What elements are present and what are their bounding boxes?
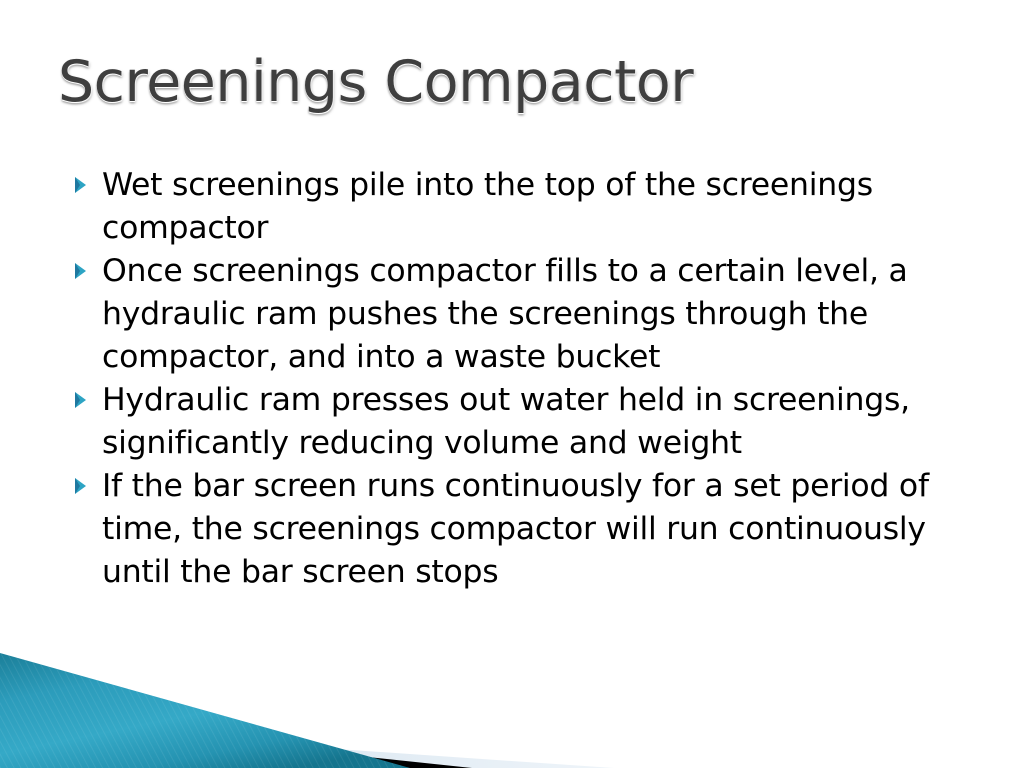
list-item: Wet screenings pile into the top of the … (70, 164, 982, 250)
list-item: Hydraulic ram presses out water held in … (70, 379, 982, 465)
teal-wedge-texture (0, 653, 410, 768)
triangle-right-bullet-icon (75, 478, 86, 494)
bullet-list: Wet screenings pile into the top of the … (70, 164, 982, 594)
pale-band-shape (0, 726, 614, 768)
list-item-text: Once screenings compactor fills to a cer… (102, 250, 982, 379)
slide-canvas: Screenings Compactor Wet screenings pile… (0, 0, 1024, 768)
teal-wedge-shape (0, 653, 410, 768)
list-item-text: Hydraulic ram presses out water held in … (102, 379, 982, 465)
triangle-right-bullet-icon (75, 392, 86, 408)
triangle-right-bullet-icon (75, 177, 86, 193)
list-item: If the bar screen runs continuously for … (70, 465, 982, 594)
list-item-text: If the bar screen runs continuously for … (102, 465, 982, 594)
page-title: Screenings Compactor (58, 44, 958, 128)
triangle-right-bullet-icon (75, 263, 86, 279)
bottom-left-corner-swoosh (0, 640, 1024, 768)
list-item: Once screenings compactor fills to a cer… (70, 250, 982, 379)
list-item-text: Wet screenings pile into the top of the … (102, 164, 982, 250)
black-stripe-shape (0, 718, 472, 768)
